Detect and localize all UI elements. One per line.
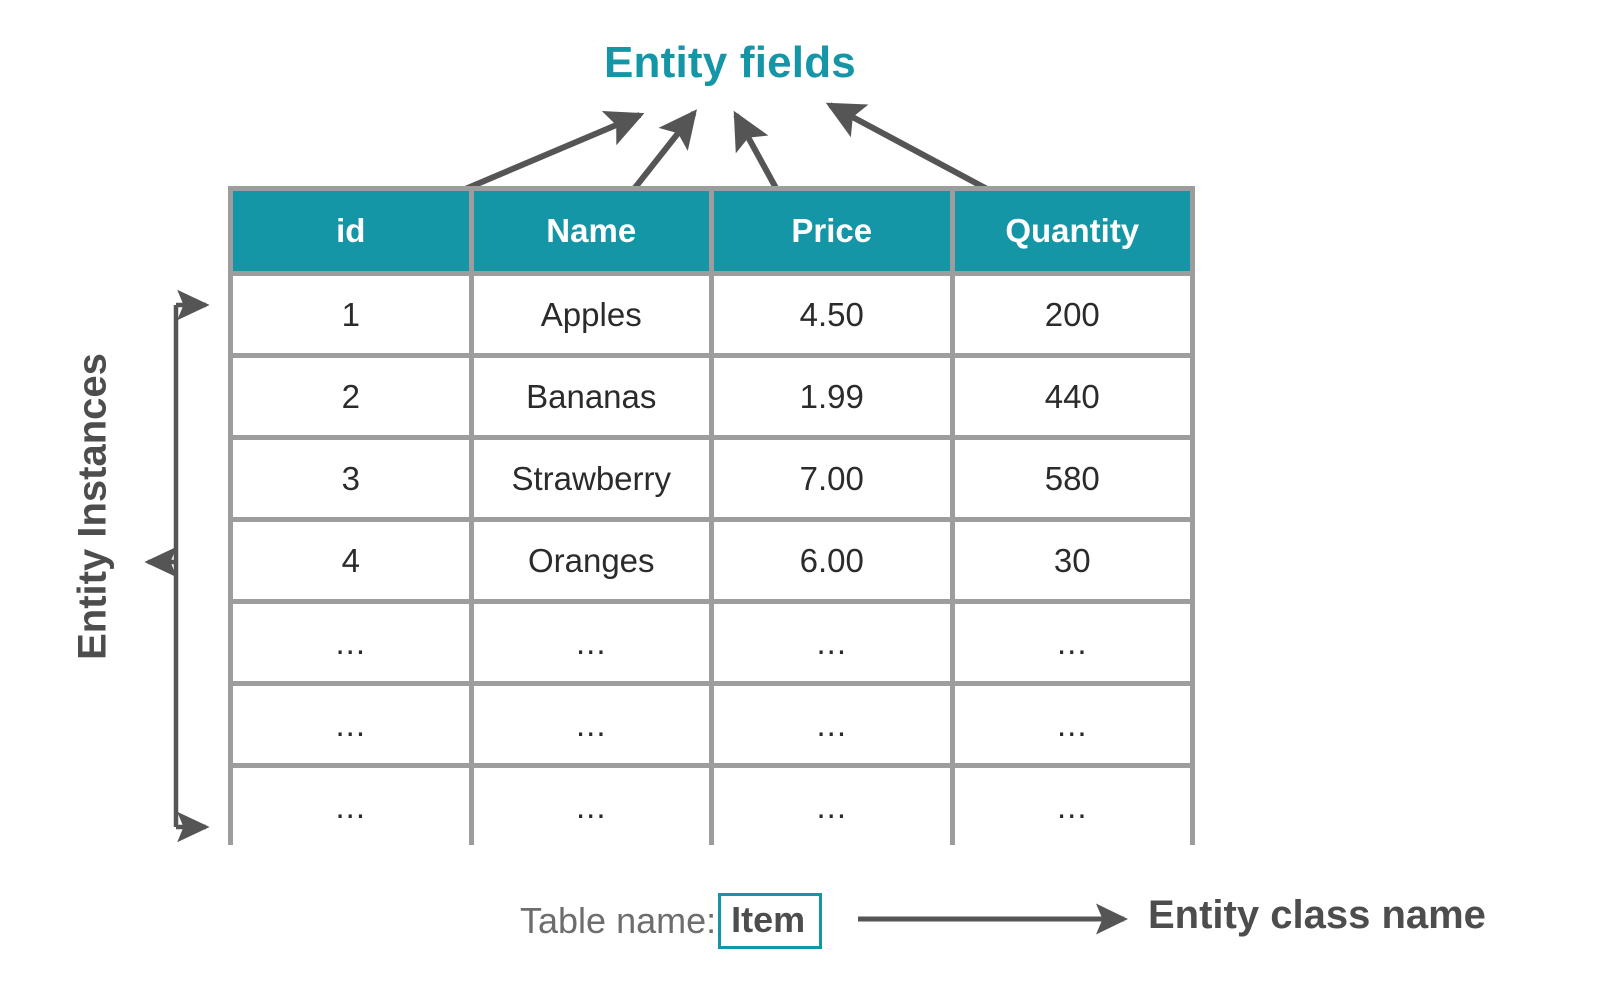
cell-id: ... xyxy=(233,768,469,845)
cell-quantity: ... xyxy=(955,686,1191,763)
table-row: 4 Oranges 6.00 30 xyxy=(233,522,1190,599)
cell-name: Strawberry xyxy=(474,440,710,517)
table-row: ... ... ... ... xyxy=(233,604,1190,681)
cell-price: 6.00 xyxy=(714,522,950,599)
table-row: 2 Bananas 1.99 440 xyxy=(233,358,1190,435)
column-header-name: Name xyxy=(474,191,710,271)
cell-id: 4 xyxy=(233,522,469,599)
entity-table: id Name Price Quantity 1 Apples 4.50 200… xyxy=(228,186,1195,850)
table-header-row: id Name Price Quantity xyxy=(233,191,1190,271)
cell-id: 2 xyxy=(233,358,469,435)
cell-quantity: ... xyxy=(955,604,1191,681)
cell-price: ... xyxy=(714,604,950,681)
cell-quantity: ... xyxy=(955,768,1191,845)
table-row: ... ... ... ... xyxy=(233,686,1190,763)
diagram-canvas: Entity fields xyxy=(0,0,1600,985)
cell-id: ... xyxy=(233,604,469,681)
cell-name: Apples xyxy=(474,276,710,353)
table-row: 3 Strawberry 7.00 580 xyxy=(233,440,1190,517)
cell-name: Bananas xyxy=(474,358,710,435)
cell-quantity: 200 xyxy=(955,276,1191,353)
column-header-quantity: Quantity xyxy=(955,191,1191,271)
cell-price: 4.50 xyxy=(714,276,950,353)
cell-price: 1.99 xyxy=(714,358,950,435)
cell-quantity: 580 xyxy=(955,440,1191,517)
entity-table-container: id Name Price Quantity 1 Apples 4.50 200… xyxy=(228,186,1195,845)
table-name-label: Table name: xyxy=(520,903,716,939)
table-header: id Name Price Quantity xyxy=(233,191,1190,271)
table-name-value-box: Item xyxy=(718,893,822,949)
cell-id: 1 xyxy=(233,276,469,353)
instances-bracket xyxy=(148,305,206,827)
table-body: 1 Apples 4.50 200 2 Bananas 1.99 440 3 S… xyxy=(233,276,1190,845)
cell-price: ... xyxy=(714,768,950,845)
column-header-id: id xyxy=(233,191,469,271)
cell-id: ... xyxy=(233,686,469,763)
table-row: 1 Apples 4.50 200 xyxy=(233,276,1190,353)
cell-quantity: 440 xyxy=(955,358,1191,435)
cell-name: Oranges xyxy=(474,522,710,599)
entity-instances-label: Entity Instances xyxy=(71,247,116,767)
cell-name: ... xyxy=(474,686,710,763)
cell-name: ... xyxy=(474,768,710,845)
page-title: Entity fields xyxy=(0,38,1460,88)
table-row: ... ... ... ... xyxy=(233,768,1190,845)
table-name-caption: Table name: Item xyxy=(520,890,822,952)
cell-price: ... xyxy=(714,686,950,763)
cell-price: 7.00 xyxy=(714,440,950,517)
column-header-price: Price xyxy=(714,191,950,271)
cell-name: ... xyxy=(474,604,710,681)
cell-id: 3 xyxy=(233,440,469,517)
cell-quantity: 30 xyxy=(955,522,1191,599)
entity-class-name-label: Entity class name xyxy=(1148,893,1486,938)
